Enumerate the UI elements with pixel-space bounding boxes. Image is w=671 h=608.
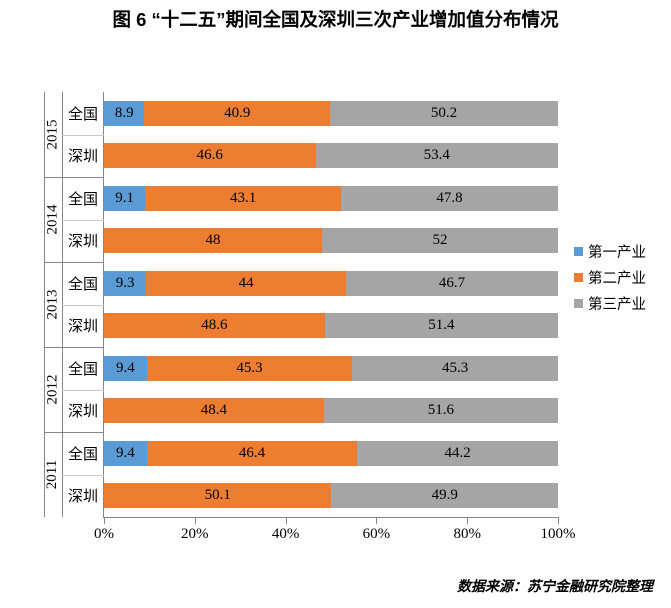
y-axis-year-label: 2011 <box>44 432 62 517</box>
bar-segment[interactable]: 50.1 <box>104 483 331 508</box>
y-axis-category-label: 全国 <box>63 92 103 135</box>
year-group-separator <box>44 262 104 263</box>
bar-segment[interactable]: 46.7 <box>346 271 558 296</box>
legend-item[interactable]: 第二产业 <box>574 264 669 290</box>
bar-segment[interactable]: 48 <box>104 228 322 253</box>
bar-segment[interactable]: 47.8 <box>341 186 558 211</box>
x-axis-tick-label: 40% <box>256 526 316 543</box>
bar-segment[interactable]: 50.2 <box>330 101 558 126</box>
bar-segment[interactable]: 9.3 <box>104 271 146 296</box>
chart-title: 图 6 “十二五”期间全国及深圳三次产业增加值分布情况 <box>0 6 671 32</box>
bar-segment[interactable]: 45.3 <box>147 356 353 381</box>
bar-segment[interactable]: 46.6 <box>104 143 316 168</box>
legend-swatch-icon <box>574 299 583 308</box>
bar-segment[interactable]: 9.4 <box>104 356 147 381</box>
bar-segment[interactable]: 43.1 <box>145 186 341 211</box>
chart-plot-container: 2015全国深圳2014全国深圳2013全国深圳2012全国深圳2011全国深圳… <box>0 58 671 558</box>
bar-segment[interactable]: 53.4 <box>316 143 558 168</box>
y-axis-category-label: 全国 <box>63 262 103 305</box>
legend-item[interactable]: 第三产业 <box>574 290 669 316</box>
x-axis-tick <box>467 517 468 524</box>
bar-segment[interactable]: 46.4 <box>147 441 358 466</box>
x-axis-tick-label: 80% <box>437 526 497 543</box>
bar-row: 8.940.950.2 <box>104 101 558 126</box>
bar-row: 48.651.4 <box>104 313 558 338</box>
y-axis-category-label: 深圳 <box>63 475 103 518</box>
x-axis-tick-label: 100% <box>528 526 588 543</box>
source-note: 数据来源：苏宁金融研究院整理 <box>457 576 653 596</box>
bar-segment[interactable]: 40.9 <box>144 101 330 126</box>
y-axis-category-label: 全国 <box>63 347 103 390</box>
bar-segment[interactable]: 8.9 <box>104 101 144 126</box>
bar-segment[interactable]: 49.9 <box>331 483 558 508</box>
bar-segment[interactable]: 44 <box>146 271 346 296</box>
bar-segment[interactable]: 51.4 <box>325 313 558 338</box>
bar-row: 46.653.4 <box>104 143 558 168</box>
y-axis-category-label: 深圳 <box>63 305 103 348</box>
year-group-separator <box>44 177 104 178</box>
y-axis-year-label: 2014 <box>44 177 62 262</box>
legend-label: 第二产业 <box>588 267 646 288</box>
x-axis-tick-label: 20% <box>165 526 225 543</box>
bar-segment[interactable]: 44.2 <box>357 441 558 466</box>
category-separator <box>62 390 104 391</box>
x-axis-tick-label: 60% <box>346 526 406 543</box>
year-group-separator <box>44 347 104 348</box>
x-axis-tick <box>104 517 105 524</box>
y-axis-year-label: 2015 <box>44 92 62 177</box>
bar-row: 50.149.9 <box>104 483 558 508</box>
bar-segment[interactable]: 45.3 <box>352 356 558 381</box>
y-axis-year-label: 2013 <box>44 262 62 347</box>
x-axis-tick <box>376 517 377 524</box>
category-separator <box>62 305 104 306</box>
bar-row: 9.34446.7 <box>104 271 558 296</box>
bar-row: 48.451.6 <box>104 398 558 423</box>
bar-segment[interactable]: 48.6 <box>104 313 325 338</box>
legend-label: 第一产业 <box>588 241 646 262</box>
plot-area: 8.940.950.246.653.49.143.147.848529.3444… <box>104 92 558 517</box>
y-axis-category-label: 全国 <box>63 177 103 220</box>
bar-segment[interactable]: 9.4 <box>104 441 147 466</box>
bar-segment[interactable]: 48.4 <box>104 398 324 423</box>
x-axis-line <box>103 517 559 518</box>
year-group-separator <box>44 432 104 433</box>
chart-legend: 第一产业第二产业第三产业 <box>574 238 669 316</box>
bar-segment[interactable]: 51.6 <box>324 398 558 423</box>
legend-swatch-icon <box>574 247 583 256</box>
bar-row: 9.445.345.3 <box>104 356 558 381</box>
category-separator <box>62 135 104 136</box>
category-separator <box>62 220 104 221</box>
y-axis-category-label: 深圳 <box>63 220 103 263</box>
category-separator <box>62 475 104 476</box>
y-axis-year-label: 2012 <box>44 347 62 432</box>
x-axis-tick <box>195 517 196 524</box>
bar-segment[interactable]: 52 <box>322 228 558 253</box>
x-axis-tick-label: 0% <box>74 526 134 543</box>
bar-segment[interactable]: 9.1 <box>104 186 145 211</box>
x-axis-tick <box>558 517 559 524</box>
y-axis-category-label: 深圳 <box>63 135 103 178</box>
bar-row: 4852 <box>104 228 558 253</box>
bar-row: 9.143.147.8 <box>104 186 558 211</box>
legend-swatch-icon <box>574 273 583 282</box>
legend-label: 第三产业 <box>588 293 646 314</box>
y-axis-category-label: 全国 <box>63 432 103 475</box>
legend-item[interactable]: 第一产业 <box>574 238 669 264</box>
y-axis-category-label: 深圳 <box>63 390 103 433</box>
x-axis-tick <box>286 517 287 524</box>
bar-row: 9.446.444.2 <box>104 441 558 466</box>
